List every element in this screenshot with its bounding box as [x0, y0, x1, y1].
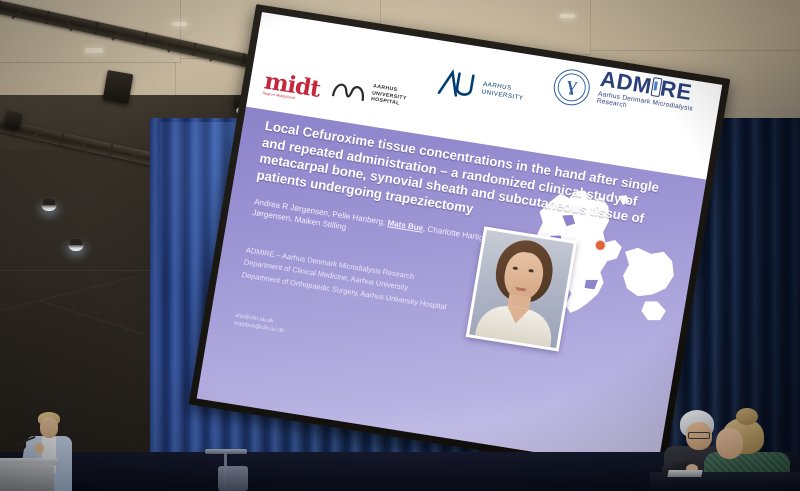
slide-contact-emails: arjo@clin.au.dk matsbue@clin.au.dk — [233, 312, 286, 336]
speaker-hand — [34, 443, 44, 454]
au-wordmark: AARHUS UNIVERSITY — [481, 81, 525, 103]
portrait-image — [469, 230, 574, 348]
projection-screen: Aarhus midt Region Midtjylland AARHUS UN… — [197, 12, 723, 471]
panelist-1-glasses-icon — [688, 432, 710, 439]
au-mark-icon — [435, 67, 480, 103]
line-array-speaker-2 — [4, 111, 23, 130]
podium — [0, 463, 54, 491]
panelist-2-hair-bun — [736, 408, 758, 425]
presenter-portrait — [466, 226, 578, 351]
line-array-speaker — [103, 70, 134, 104]
auh-wordmark: AARHUS UNIVERSITY HOSPITAL — [370, 84, 408, 108]
speaker-head — [40, 417, 58, 438]
stage-chair — [218, 466, 248, 491]
seal-ring — [556, 71, 588, 103]
auditorium-scene: Aarhus midt Region Midtjylland AARHUS UN… — [0, 0, 800, 491]
author-highlight: Mats Bue — [387, 218, 424, 233]
auh-mark-icon — [330, 74, 370, 105]
presentation-slide: Aarhus midt Region Midtjylland AARHUS UN… — [197, 12, 723, 471]
laptop — [667, 470, 702, 477]
panelist-2-face — [716, 428, 743, 459]
